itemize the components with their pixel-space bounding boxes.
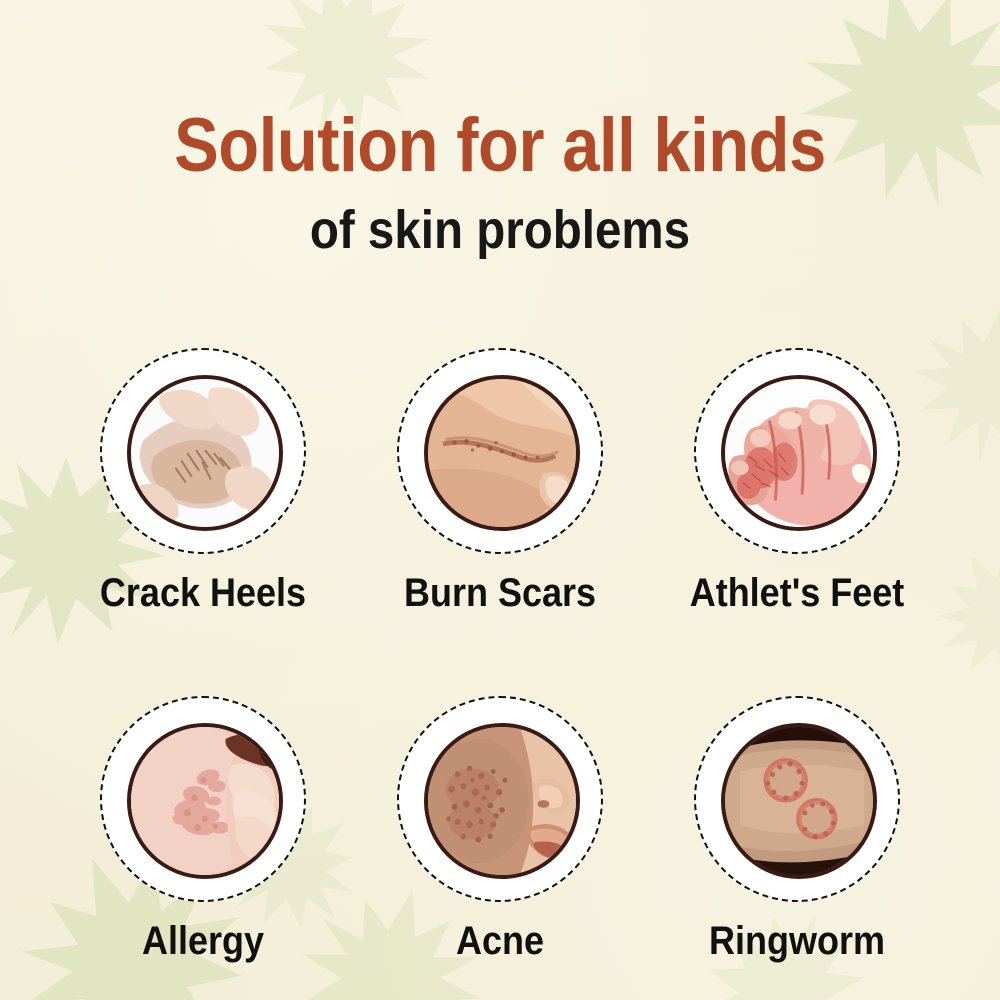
condition-label: Burn Scars bbox=[369, 570, 630, 616]
condition-label: Ringworm bbox=[666, 918, 927, 964]
acne-face-photo bbox=[424, 723, 580, 879]
skin-allergy-photo bbox=[127, 723, 283, 879]
condition-label: Crack Heels bbox=[73, 570, 334, 616]
condition-label: Acne bbox=[369, 918, 630, 964]
condition-item-acne[interactable]: Acne bbox=[355, 696, 645, 964]
condition-item-athletes-feet[interactable]: Athlet's Feet bbox=[652, 348, 942, 616]
condition-ring bbox=[397, 348, 603, 554]
page-subtitle: of skin problems bbox=[60, 200, 940, 260]
ringworm-photo bbox=[721, 723, 877, 879]
poster-canvas: Solution for all kinds of skin problems bbox=[0, 0, 1000, 1000]
conditions-grid: Crack Heels bbox=[55, 348, 945, 964]
athletes-foot-photo bbox=[721, 375, 877, 531]
condition-label: Allergy bbox=[73, 918, 334, 964]
condition-item-burn-scars[interactable]: Burn Scars bbox=[355, 348, 645, 616]
condition-ring bbox=[397, 696, 603, 902]
cracked-heel-photo bbox=[127, 375, 283, 531]
condition-label: Athlet's Feet bbox=[666, 570, 927, 616]
condition-ring bbox=[100, 696, 306, 902]
condition-ring bbox=[100, 348, 306, 554]
page-title: Solution for all kinds bbox=[60, 104, 940, 188]
condition-ring bbox=[694, 696, 900, 902]
burn-scar-photo bbox=[424, 375, 580, 531]
condition-ring bbox=[694, 348, 900, 554]
condition-item-allergy[interactable]: Allergy bbox=[58, 696, 348, 964]
condition-item-ringworm[interactable]: Ringworm bbox=[652, 696, 942, 964]
headings-block: Solution for all kinds of skin problems bbox=[0, 104, 1000, 260]
condition-item-crack-heels[interactable]: Crack Heels bbox=[58, 348, 348, 616]
